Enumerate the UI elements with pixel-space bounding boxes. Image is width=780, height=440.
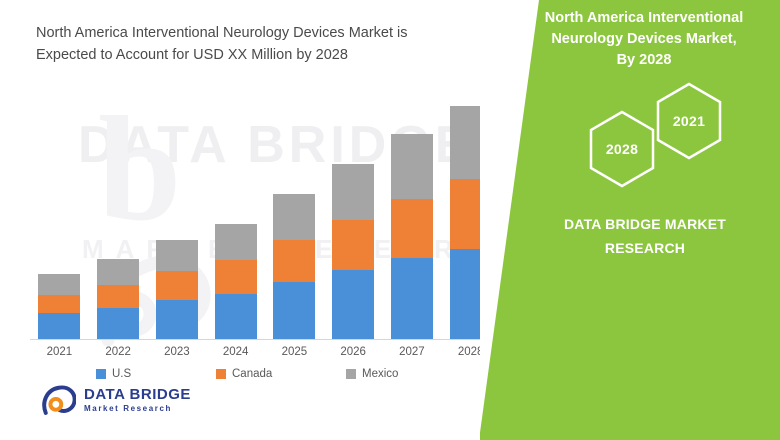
bar-group-2023 — [156, 240, 198, 339]
x-axis-tick-2024: 2024 — [208, 346, 264, 358]
bar-group-2022 — [97, 259, 139, 339]
bar-segment-canada-2026 — [332, 220, 374, 270]
legend-swatch-mexico — [346, 369, 356, 379]
stacked-bar-chart: 20212022202320242025202620272028 — [30, 90, 500, 340]
hexagon-2028: 2028 — [588, 110, 656, 188]
panel-brand-text: DATA BRIDGE MARKETRESEARCH — [520, 212, 770, 260]
bar-segment-canada-2027 — [391, 199, 433, 259]
legend-swatch-canada — [216, 369, 226, 379]
x-axis-tick-2026: 2026 — [325, 346, 381, 358]
bar-group-2025 — [273, 194, 315, 339]
legend-label: U.S — [112, 368, 131, 380]
bar-segment-us-2025 — [273, 282, 315, 339]
legend-item-mexico: Mexico — [346, 368, 398, 380]
bar-segment-us-2024 — [215, 294, 257, 339]
bar-segment-mexico-2027 — [391, 134, 433, 198]
legend-label: Canada — [232, 368, 272, 380]
bar-segment-us-2026 — [332, 270, 374, 339]
bridge-logo-icon — [40, 382, 76, 418]
panel-title-line-0: North America Interventional — [520, 8, 768, 29]
bar-segment-canada-2021 — [38, 295, 80, 313]
bar-group-2024 — [215, 224, 257, 339]
bar-segment-us-2021 — [38, 313, 80, 339]
panel-title-line-2: By 2028 — [520, 50, 768, 71]
logo-subtitle: Market Research — [84, 403, 191, 415]
x-axis-tick-2023: 2023 — [149, 346, 205, 358]
right-green-panel: North America InterventionalNeurology De… — [480, 0, 780, 440]
x-axis-tick-2027: 2027 — [384, 346, 440, 358]
bar-segment-mexico-2023 — [156, 240, 198, 271]
legend-item-canada: Canada — [216, 368, 272, 380]
panel-brand-line-1: RESEARCH — [520, 236, 770, 260]
bar-segment-canada-2025 — [273, 240, 315, 282]
panel-brand-line-0: DATA BRIDGE MARKET — [520, 212, 770, 236]
bar-segment-us-2027 — [391, 258, 433, 339]
panel-title-line-1: Neurology Devices Market, — [520, 29, 768, 50]
bar-segment-us-2023 — [156, 300, 198, 339]
bar-group-2021 — [38, 274, 80, 339]
hexagon-2021-label: 2021 — [655, 82, 723, 160]
brand-logo: DATA BRIDGE Market Research — [40, 382, 191, 418]
x-axis-tick-2021: 2021 — [31, 346, 87, 358]
hexagon-2028-label: 2028 — [588, 110, 656, 188]
bar-segment-mexico-2025 — [273, 194, 315, 240]
bar-group-2027 — [391, 134, 433, 339]
bar-segment-us-2022 — [97, 308, 139, 339]
bar-group-2026 — [332, 164, 374, 339]
bar-segment-canada-2024 — [215, 260, 257, 293]
logo-title: DATA BRIDGE — [84, 386, 191, 403]
x-axis-tick-2025: 2025 — [266, 346, 322, 358]
bar-segment-canada-2023 — [156, 271, 198, 300]
bar-segment-mexico-2026 — [332, 164, 374, 220]
bar-segment-canada-2022 — [97, 285, 139, 308]
x-axis-tick-2022: 2022 — [90, 346, 146, 358]
bar-segment-mexico-2021 — [38, 274, 80, 295]
infographic-canvas: b DATA BRIDGE MARKET RESEARCH North Amer… — [0, 0, 780, 440]
bar-segment-mexico-2024 — [215, 224, 257, 261]
page-title: North America Interventional Neurology D… — [36, 22, 466, 66]
panel-title: North America InterventionalNeurology De… — [520, 8, 768, 71]
legend-item-us: U.S — [96, 368, 131, 380]
hexagon-2021: 2021 — [655, 82, 723, 160]
bar-segment-mexico-2022 — [97, 259, 139, 285]
x-axis-line — [30, 339, 500, 340]
legend-swatch-us — [96, 369, 106, 379]
legend-label: Mexico — [362, 368, 398, 380]
